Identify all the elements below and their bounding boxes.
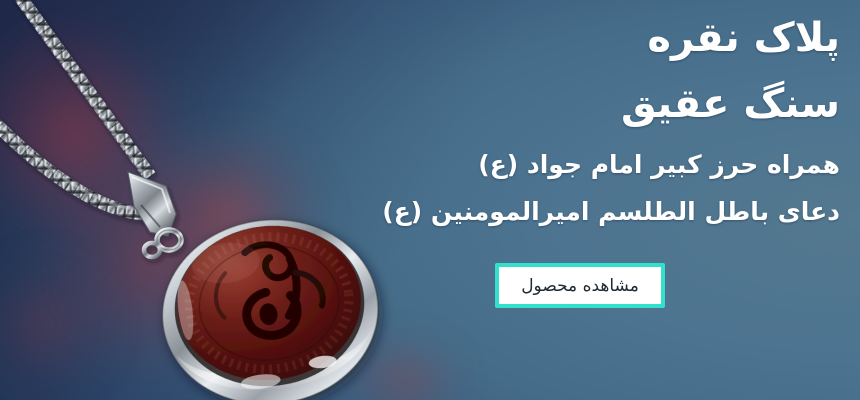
view-product-button[interactable]: مشاهده محصول xyxy=(495,263,665,308)
copy-block: پلاک نقره سنگ عقیق همراه حرز کبیر امام ج… xyxy=(340,0,840,400)
subheadline-line-2: دعای باطل الطلسم امیرالمومنین (ع) xyxy=(382,199,840,224)
headline-line-2: سنگ عقیق xyxy=(621,84,840,124)
headline-line-1: پلاک نقره xyxy=(647,18,840,58)
subheadline-line-1: همراه حرز کبیر امام جواد (ع) xyxy=(478,152,840,177)
promo-banner: پلاک نقره سنگ عقیق همراه حرز کبیر امام ج… xyxy=(0,0,860,400)
